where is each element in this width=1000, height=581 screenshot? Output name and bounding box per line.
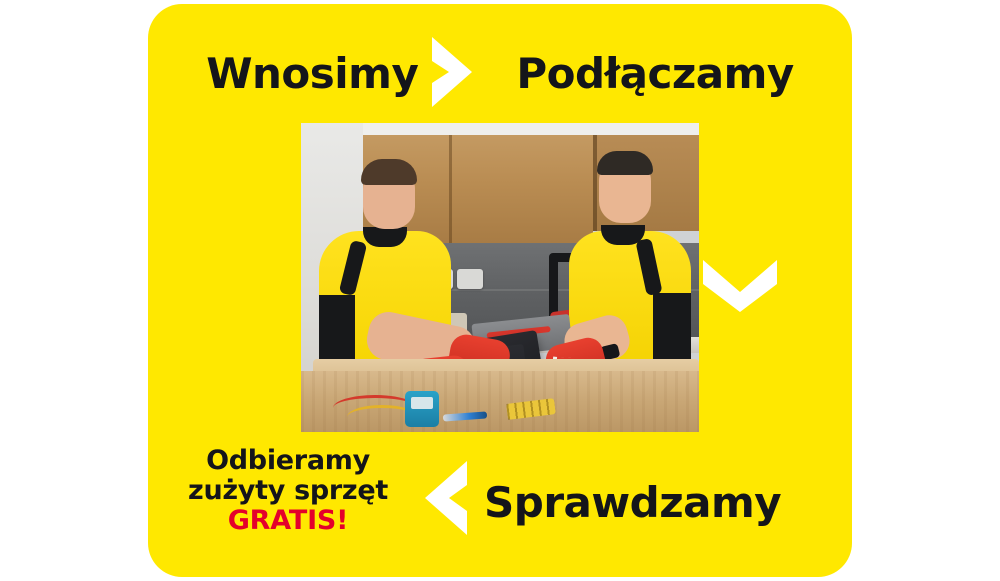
technician-right-hair [597,151,653,175]
step-4-line-1: Odbieramy [172,446,404,476]
step-4-line-2: zużyty sprzęt [172,476,404,506]
chevron-down-icon [699,254,781,316]
promo-banner: Wnosimy Podłączamy [0,0,1000,581]
step-4-block: Odbieramy zużyty sprzęt GRATIS! [172,446,404,537]
step-2-label: Podłączamy [516,53,793,95]
installation-photo [301,123,699,432]
chevron-right-icon [425,33,479,111]
step-1-label: Wnosimy [206,53,418,95]
step-4-line-3-gratis: GRATIS! [172,506,404,536]
step-3-label: Sprawdzamy [484,478,781,527]
photo-frame [301,123,699,432]
headline-row: Wnosimy Podłączamy [148,36,852,112]
wall-socket-2 [457,269,483,289]
technician-left-hair [361,159,417,185]
chevron-left-icon [418,457,474,539]
multimeter [405,391,439,427]
